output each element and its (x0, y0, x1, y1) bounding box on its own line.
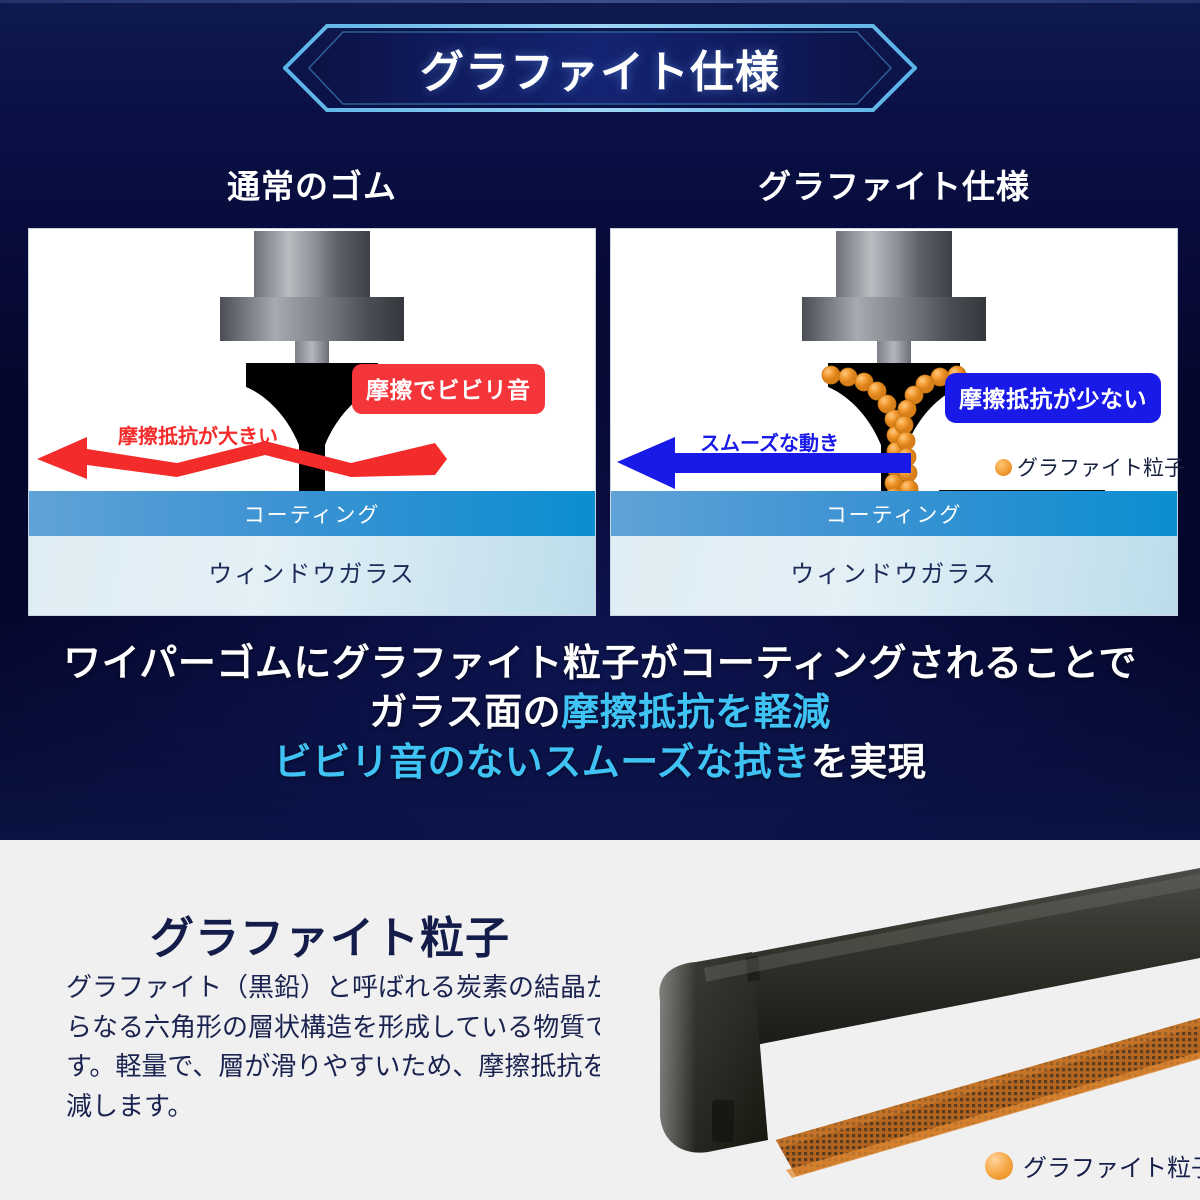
panel-heading-normal-rubber: 通常のゴム (28, 160, 596, 208)
glass-layer-left: ウィンドウガラス (29, 536, 595, 616)
summary-line-3: ビビリ音のないスムーズな拭きを実現 (0, 739, 1200, 788)
summary-line-3-plain: を実現 (811, 742, 927, 784)
status-badge-low-friction: 摩擦抵抗が少ない (945, 373, 1161, 423)
summary-line-2: ガラス面の摩擦抵抗を軽減 (0, 689, 1200, 738)
graphite-info-section: グラファイト粒子 グラファイト（黒鉛）と呼ばれる炭素の結晶からなる六角形の層状構… (0, 840, 1200, 1200)
glass-layer-right: ウィンドウガラス (611, 536, 1177, 616)
callout-graphite-label: グラファイト粒子 (1017, 452, 1185, 482)
page-title: グラファイト仕様 (283, 24, 917, 112)
graphite-particle-dot-icon (995, 459, 1012, 476)
summary-line-3-highlight-a: ビビリ音のない (274, 742, 544, 784)
summary-text-block: ワイパーゴムにグラファイト粒子がコーティングされることで ガラス面の摩擦抵抗を軽… (0, 640, 1200, 788)
wiper-blade-photo (600, 840, 1200, 1200)
glass-label: ウィンドウガラス (208, 554, 416, 589)
coating-label: コーティング (826, 499, 963, 529)
panel-heading-graphite: グラファイト仕様 (610, 160, 1178, 208)
arrow-label-high-friction: 摩擦抵抗が大きい (118, 420, 278, 449)
coating-layer-right: コーティング (611, 491, 1177, 536)
summary-line-3-highlight-b: スムーズな拭き (543, 742, 811, 784)
legend-graphite-label: グラファイト粒子 (1023, 1148, 1200, 1183)
wiper-blade-photo-image (600, 840, 1200, 1200)
arrow-label-smooth-movement: スムーズな動き (700, 427, 839, 456)
diagram-panel-normal-rubber: コーティング ウィンドウガラス (28, 228, 596, 616)
legend-graphite-particle: グラファイト粒子 (985, 1148, 1200, 1183)
coating-layer-left: コーティング (29, 491, 595, 536)
glass-label: ウィンドウガラス (790, 554, 998, 589)
callout-graphite-particle: グラファイト粒子 (995, 452, 1185, 482)
graphite-particle-legend-dot-icon (985, 1152, 1013, 1180)
summary-line-2-plain: ガラス面の (369, 692, 561, 734)
summary-line-1: ワイパーゴムにグラファイト粒子がコーティングされることで (0, 640, 1200, 689)
top-hairline-divider (0, 0, 1200, 3)
status-badge-friction-noise: 摩擦でビビリ音 (352, 364, 545, 414)
bottom-section-title: グラファイト粒子 (150, 902, 510, 966)
coating-label: コーティング (244, 499, 381, 529)
top-hero-section: グラファイト仕様 通常のゴム グラファイト仕様 (0, 0, 1200, 840)
title-banner: グラファイト仕様 (283, 24, 917, 112)
summary-line-2-highlight: 摩擦抵抗を軽減 (561, 692, 831, 734)
bottom-section-body: グラファイト（黒鉛）と呼ばれる炭素の結晶からなる六角形の層状構造を形成している物… (66, 968, 636, 1126)
